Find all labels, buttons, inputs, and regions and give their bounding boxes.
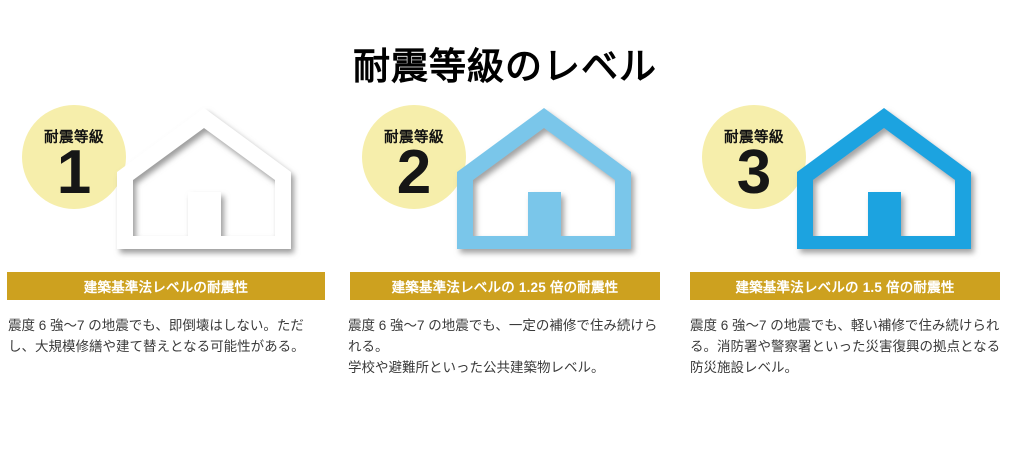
house-icon: [108, 106, 308, 261]
level-column-1: 耐震等級 1 建築基準法レベルの耐震性 震度 6 強〜7 の地震でも、即倒壊はし…: [0, 100, 340, 460]
house-icon: [448, 106, 648, 261]
description-2: 震度 6 強〜7 の地震でも、一定の補修で住み続けられる。 学校や避難所といった…: [348, 315, 660, 378]
level-column-2: 耐震等級 2 建築基準法レベルの 1.25 倍の耐震性 震度 6 強〜7 の地震…: [340, 100, 680, 460]
level-hero-1: 耐震等級 1: [0, 100, 340, 265]
level-columns: 耐震等級 1 建築基準法レベルの耐震性 震度 6 強〜7 の地震でも、即倒壊はし…: [0, 100, 1010, 460]
description-1: 震度 6 強〜7 の地震でも、即倒壊はしない。ただし、大規模修繕や建て替えとなる…: [8, 315, 323, 357]
level-hero-3: 耐震等級 3: [680, 100, 1010, 265]
level-column-3: 耐震等級 3 建築基準法レベルの 1.5 倍の耐震性 震度 6 強〜7 の地震で…: [680, 100, 1010, 460]
house-icon: [788, 106, 988, 261]
level-number: 1: [22, 142, 126, 204]
level-hero-2: 耐震等級 2: [340, 100, 680, 265]
page-title: 耐震等級のレベル: [0, 36, 1010, 90]
level-number: 3: [702, 142, 806, 204]
level-number: 2: [362, 142, 466, 204]
bar-label-1: 建築基準法レベルの耐震性: [7, 272, 325, 300]
bar-label-2: 建築基準法レベルの 1.25 倍の耐震性: [350, 272, 660, 300]
bar-label-3: 建築基準法レベルの 1.5 倍の耐震性: [690, 272, 1000, 300]
description-3: 震度 6 強〜7 の地震でも、軽い補修で住み続けられる。消防署や警察署といった災…: [690, 315, 1002, 378]
